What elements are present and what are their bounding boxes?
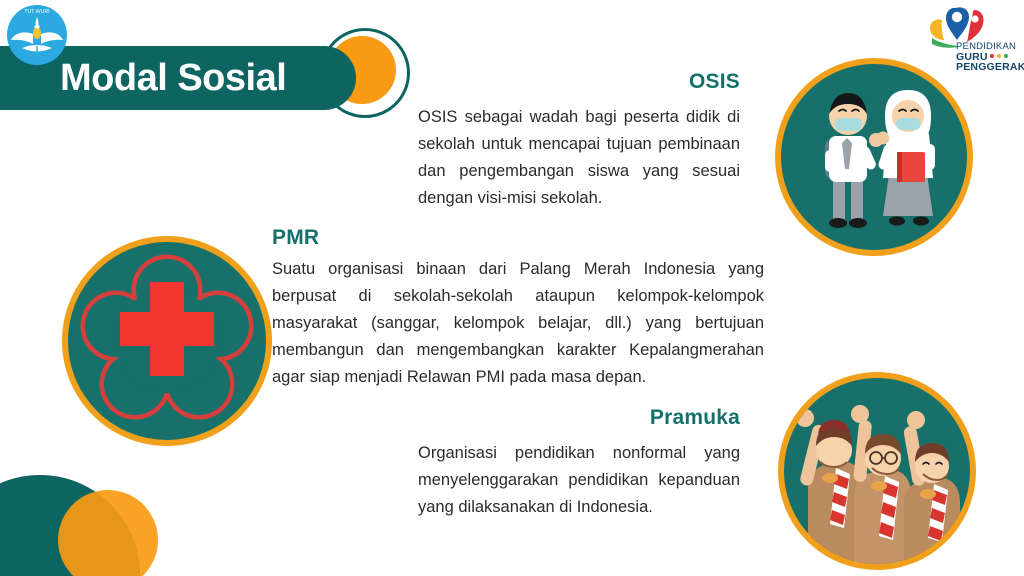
osis-heading: OSIS (560, 70, 740, 94)
scout-middle (851, 405, 911, 564)
pramuka-illustration (778, 372, 976, 570)
svg-text:TUT WURI: TUT WURI (24, 9, 49, 15)
pramuka-heading: Pramuka (560, 406, 740, 430)
student-girl (877, 90, 936, 226)
pgp-logo-text: PENDIDIKAN GURU PENGGERAK (956, 42, 1024, 73)
pgp-dot-red (990, 54, 994, 58)
student-boy (825, 93, 883, 228)
pmr-body-text: Suatu organisasi binaan dari Palang Mera… (272, 256, 764, 391)
osis-illustration (775, 58, 973, 256)
pgp-dot-yellow (997, 54, 1001, 58)
scout-left (796, 409, 863, 564)
scout-right (903, 411, 960, 564)
pramuka-body-text: Organisasi pendidikan nonformal yang men… (418, 440, 740, 521)
slide-canvas: Modal Sosial TUT WURI PENDIDIKAN GURU (0, 0, 1024, 576)
pgp-dot-green (1004, 54, 1008, 58)
osis-body-text: OSIS sebagai wadah bagi peserta didik di… (418, 104, 740, 212)
pmr-logo-illustration (62, 236, 272, 446)
decorative-orange-circle (58, 490, 158, 576)
pmr-heading: PMR (272, 226, 472, 250)
page-title: Modal Sosial (60, 52, 350, 104)
pgp-line-3: PENGGERAK (956, 62, 1024, 73)
tut-wuri-handayani-logo: TUT WURI (6, 4, 68, 66)
